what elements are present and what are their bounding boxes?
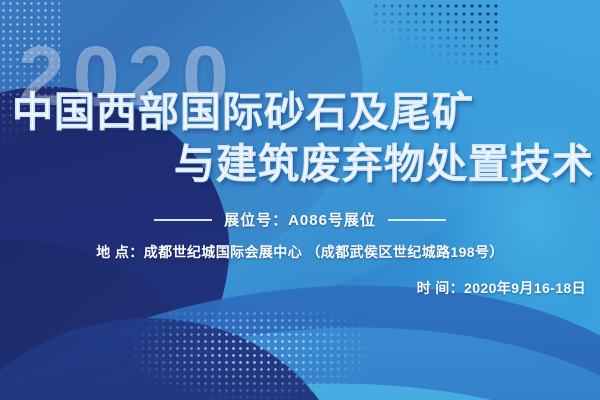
exhibition-banner: 2020 中国西部国际砂石及尾矿 与建筑废弃物处置技术 展位号：A086号展位 … — [0, 0, 600, 400]
date-label: 时 间：2020年9月16-18日 — [417, 278, 586, 298]
venue-label: 地 点：成都世纪城国际会展中心 （成都武侯区世纪城路198号） — [0, 242, 600, 262]
divider-line-right — [388, 219, 446, 221]
dot-pattern-bottom-icon — [132, 310, 382, 400]
page-title-line-1: 中国西部国际砂石及尾矿 — [0, 88, 600, 136]
banner-title-group: 中国西部国际砂石及尾矿 与建筑废弃物处置技术 — [0, 88, 600, 189]
divider-line-left — [154, 219, 212, 221]
dot-pattern-topright-icon — [372, 2, 502, 70]
booth-number-row: 展位号：A086号展位 — [0, 209, 600, 230]
booth-number-label: 展位号：A086号展位 — [224, 209, 376, 230]
page-title-line-2: 与建筑废弃物处置技术 — [0, 140, 600, 188]
